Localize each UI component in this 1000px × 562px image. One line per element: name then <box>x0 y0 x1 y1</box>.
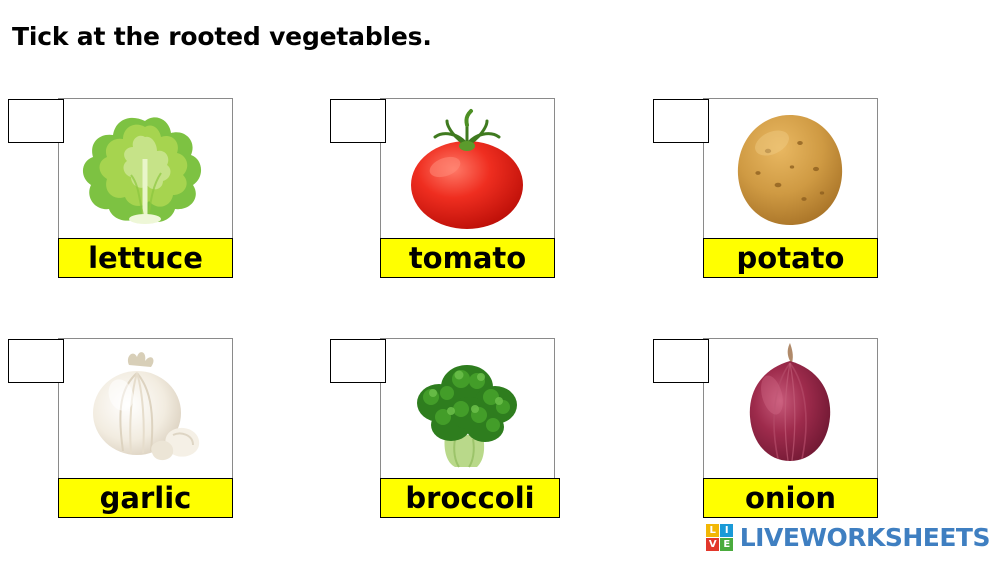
vegetable-cell-garlic: garlic <box>0 318 232 548</box>
page-title: Tick at the rooted vegetables. <box>12 22 432 51</box>
garlic-image <box>59 339 232 477</box>
vegetable-cell-potato: potato <box>645 78 877 308</box>
checkbox-potato[interactable] <box>653 99 709 143</box>
grid-row-1: lettuce <box>0 78 1000 318</box>
onion-image <box>704 339 877 477</box>
logo-row-top: L I <box>706 523 734 537</box>
logo-color-blocks: L I V E <box>706 523 734 551</box>
vegetable-label-onion: onion <box>703 478 878 518</box>
checkbox-onion[interactable] <box>653 339 709 383</box>
vegetable-label-lettuce: lettuce <box>58 238 233 278</box>
potato-image <box>704 99 877 237</box>
checkbox-tomato[interactable] <box>330 99 386 143</box>
vegetable-cell-broccoli: broccoli <box>322 318 554 548</box>
logo-row-bottom: V E <box>706 537 734 551</box>
vegetable-label-potato: potato <box>703 238 878 278</box>
checkbox-broccoli[interactable] <box>330 339 386 383</box>
logo-block-v: V <box>706 538 719 551</box>
vegetable-cell-lettuce: lettuce <box>0 78 232 308</box>
logo-block-l: L <box>706 524 719 537</box>
checkbox-garlic[interactable] <box>8 339 64 383</box>
lettuce-image <box>59 99 232 237</box>
logo-text: LIVEWORKSHEETS <box>740 523 990 552</box>
vegetable-label-garlic: garlic <box>58 478 233 518</box>
tomato-image <box>381 99 554 237</box>
worksheet-page: Tick at the rooted vegetables. <box>0 0 1000 562</box>
liveworksheets-logo[interactable]: L I V E LIVEWORKSHEETS <box>706 522 990 552</box>
logo-block-i: I <box>720 524 733 537</box>
vegetable-grid: lettuce <box>0 78 1000 558</box>
vegetable-cell-tomato: tomato <box>322 78 554 308</box>
broccoli-image <box>381 339 554 477</box>
logo-block-e: E <box>720 538 733 551</box>
vegetable-label-tomato: tomato <box>380 238 555 278</box>
vegetable-label-broccoli: broccoli <box>380 478 560 518</box>
checkbox-lettuce[interactable] <box>8 99 64 143</box>
vegetable-cell-onion: onion <box>645 318 877 548</box>
